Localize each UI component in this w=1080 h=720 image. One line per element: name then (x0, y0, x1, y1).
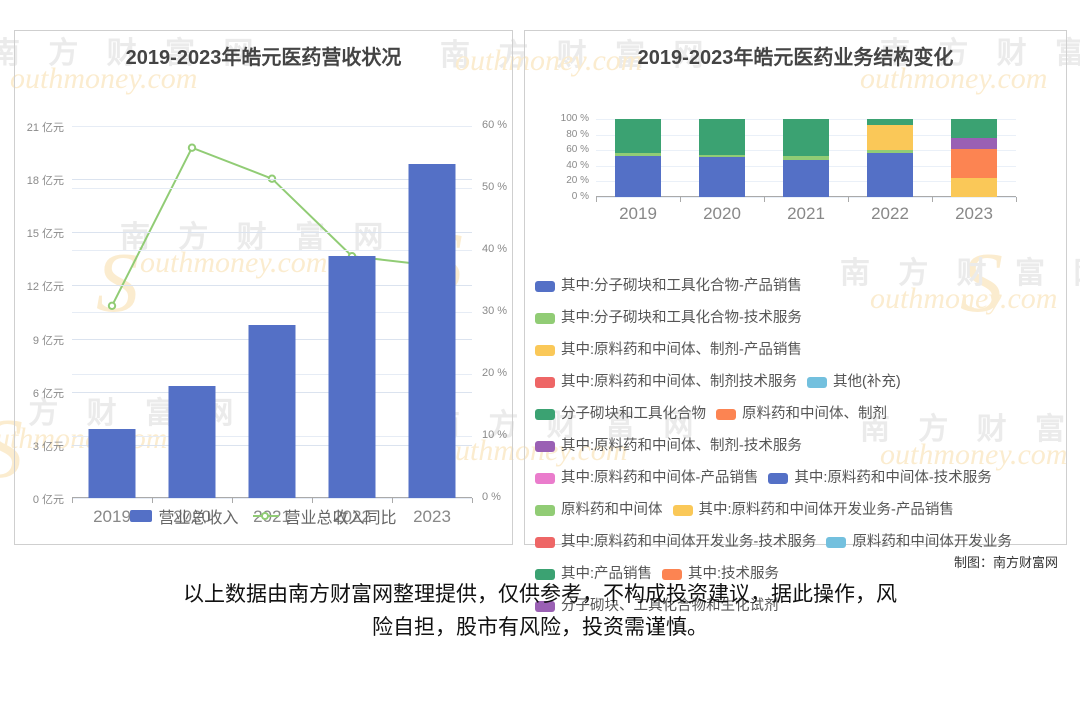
stack-segment[interactable] (951, 119, 997, 138)
legend-swatch-icon (535, 377, 555, 388)
legend-label: 原料药和中间体 (561, 500, 663, 520)
legend-item[interactable]: 其中:原料药和中间体、制剂技术服务 (535, 372, 797, 392)
legend-swatch-icon (826, 537, 846, 548)
x-axis-tick (152, 498, 153, 503)
y-axis-tick: 20 % (566, 175, 589, 186)
gridline (72, 126, 472, 127)
stack-segment[interactable] (951, 138, 997, 149)
legend-item[interactable]: 其中:分子砌块和工具化合物-技术服务 (535, 308, 802, 328)
legend-swatch-icon (716, 409, 736, 420)
x-axis-tick (472, 498, 473, 503)
legend-item[interactable]: 其中:原料药和中间体、制剂-产品销售 (535, 340, 802, 360)
y-axis-right-tick: 60 % (482, 119, 507, 131)
legend-swatch-icon (535, 537, 555, 548)
structure-plot-area: 0 %20 %40 %60 %80 %100 %2019202020212022… (596, 119, 1016, 197)
legend-swatch-icon (673, 505, 693, 516)
legend-item[interactable]: 分子砌块和工具化合物 (535, 404, 706, 424)
legend-swatch-icon (535, 409, 555, 420)
y-axis-tick: 100 % (561, 113, 589, 124)
legend-item[interactable]: 其中:原料药和中间体-技术服务 (768, 468, 991, 488)
stacked-bar[interactable] (699, 119, 745, 197)
x-axis-label: 2021 (787, 204, 825, 224)
stack-segment[interactable] (867, 125, 913, 150)
stack-segment[interactable] (951, 178, 997, 198)
yoy-data-point[interactable] (109, 303, 115, 309)
legend-label: 其中:分子砌块和工具化合物-技术服务 (561, 308, 802, 328)
revenue-plot-area: 0 亿元3 亿元6 亿元9 亿元12 亿元15 亿元18 亿元21 亿元0 %1… (72, 126, 472, 498)
disclaimer-text: 以上数据由南方财富网整理提供，仅供参考，不构成投资建议，据此操作，风 险自担，股… (70, 578, 1010, 644)
line-swatch-icon (253, 510, 279, 522)
y-axis-left-tick: 9 亿元 (33, 332, 64, 348)
x-axis-tick (764, 197, 765, 202)
legend-label: 其他(补充) (833, 372, 901, 392)
legend-item-total-revenue[interactable]: 营业总收入 (130, 504, 238, 528)
yoy-line (112, 148, 432, 306)
legend-swatch-icon (535, 505, 555, 516)
page-title: 2019-2023年皓元医药业务结构变化 (525, 41, 1066, 70)
x-axis-label: 2023 (955, 204, 993, 224)
stacked-bar[interactable] (783, 119, 829, 197)
legend-item[interactable]: 其中:原料药和中间体、制剂-技术服务 (535, 436, 802, 456)
x-axis-tick (1016, 197, 1017, 202)
legend-item[interactable]: 原料药和中间体、制剂 (716, 404, 887, 424)
yoy-data-point[interactable] (189, 145, 195, 151)
stacked-bar[interactable] (867, 119, 913, 197)
y-axis-left-tick: 21 亿元 (27, 119, 64, 135)
x-axis-label: 2022 (871, 204, 909, 224)
legend-swatch-icon (535, 313, 555, 324)
bar[interactable] (409, 164, 456, 498)
bar[interactable] (249, 325, 296, 498)
disclaimer-line-2: 险自担，股市有风险，投资需谨慎。 (70, 611, 1010, 644)
y-axis-left-tick: 18 亿元 (27, 172, 64, 188)
x-axis-tick (312, 498, 313, 503)
y-axis-right-tick: 30 % (482, 305, 507, 317)
revenue-chart-panel: 2019-2023年皓元医药营收状况 0 亿元3 亿元6 亿元9 亿元12 亿元… (14, 30, 513, 545)
legend-label: 其中:原料药和中间体开发业务-产品销售 (699, 500, 954, 520)
page-title: 2019-2023年皓元医药营收状况 (15, 41, 512, 70)
bar[interactable] (89, 429, 136, 498)
y-axis-tick: 0 % (572, 191, 589, 202)
bar[interactable] (169, 386, 216, 498)
gridline (596, 197, 1016, 198)
legend-item[interactable]: 其中:原料药和中间体开发业务-技术服务 (535, 532, 816, 552)
x-axis-label: 2019 (619, 204, 657, 224)
y-axis-left-tick: 3 亿元 (33, 438, 64, 454)
y-axis-tick: 60 % (566, 144, 589, 155)
x-axis-tick (848, 197, 849, 202)
stack-segment[interactable] (783, 119, 829, 156)
legend-label: 其中:原料药和中间体-产品销售 (561, 468, 758, 488)
stack-segment[interactable] (615, 156, 661, 197)
legend-item[interactable]: 原料药和中间体开发业务 (826, 532, 1012, 552)
y-axis-right-tick: 20 % (482, 367, 507, 379)
legend-label: 营业总收入同比 (285, 504, 397, 528)
legend-item[interactable]: 其中:原料药和中间体-产品销售 (535, 468, 758, 488)
x-axis-tick (596, 197, 597, 202)
legend-label: 原料药和中间体开发业务 (852, 532, 1012, 552)
stack-segment[interactable] (951, 149, 997, 178)
gridline (72, 498, 472, 499)
legend-label: 其中:分子砌块和工具化合物-产品销售 (561, 276, 802, 296)
legend-swatch-icon (535, 441, 555, 452)
stacked-bar[interactable] (951, 119, 997, 197)
legend-label: 分子砌块和工具化合物 (561, 404, 706, 424)
legend-swatch-icon (535, 345, 555, 356)
legend-item[interactable]: 其他(补充) (807, 372, 901, 392)
x-axis-tick (232, 498, 233, 503)
y-axis-tick: 40 % (566, 160, 589, 171)
bar[interactable] (329, 256, 376, 498)
y-axis-right-tick: 0 % (482, 491, 501, 503)
legend-swatch-icon (807, 377, 827, 388)
y-axis-left-tick: 15 亿元 (27, 225, 64, 241)
disclaimer-line-1: 以上数据由南方财富网整理提供，仅供参考，不构成投资建议，据此操作，风 (70, 578, 1010, 611)
bar-swatch-icon (130, 510, 152, 522)
business-structure-panel: 2019-2023年皓元医药业务结构变化 0 %20 %40 %60 %80 %… (524, 30, 1067, 545)
x-axis-label: 2020 (703, 204, 741, 224)
legend-swatch-icon (535, 281, 555, 292)
legend-swatch-icon (768, 473, 788, 484)
x-axis-tick (392, 498, 393, 503)
x-axis-tick (932, 197, 933, 202)
legend-label: 原料药和中间体、制剂 (742, 404, 887, 424)
stacked-bar[interactable] (615, 119, 661, 197)
y-axis-left-tick: 6 亿元 (33, 385, 64, 401)
legend-item-total-revenue-yoy[interactable]: 营业总收入同比 (253, 504, 397, 528)
x-axis-tick (680, 197, 681, 202)
stack-segment[interactable] (867, 153, 913, 197)
stack-segment[interactable] (783, 160, 829, 197)
stack-segment[interactable] (699, 157, 745, 197)
y-axis-right-tick: 40 % (482, 243, 507, 255)
legend-label: 其中:原料药和中间体、制剂-产品销售 (561, 340, 802, 360)
y-axis-tick: 80 % (566, 129, 589, 140)
legend-swatch-icon (535, 473, 555, 484)
legend-label: 其中:原料药和中间体开发业务-技术服务 (561, 532, 816, 552)
legend-label: 其中:原料药和中间体-技术服务 (794, 468, 991, 488)
x-axis-tick (72, 498, 73, 503)
chart-credit: 制图：南方财富网 (954, 552, 1058, 571)
revenue-chart-legend: 营业总收入 营业总收入同比 (15, 504, 512, 528)
legend-item[interactable]: 原料药和中间体 (535, 500, 663, 520)
infographic-page: 南 方 财 富 网 outhmoney.com S 南 方 财 富 网 outh… (0, 0, 1080, 720)
legend-item[interactable]: 其中:分子砌块和工具化合物-产品销售 (535, 276, 802, 296)
legend-label: 营业总收入 (158, 504, 238, 528)
legend-label: 其中:原料药和中间体、制剂技术服务 (561, 372, 797, 392)
legend-item[interactable]: 其中:原料药和中间体开发业务-产品销售 (673, 500, 954, 520)
y-axis-left-tick: 12 亿元 (27, 278, 64, 294)
legend-label: 其中:原料药和中间体、制剂-技术服务 (561, 436, 802, 456)
stack-segment[interactable] (615, 119, 661, 153)
y-axis-right-tick: 10 % (482, 429, 507, 441)
y-axis-right-tick: 50 % (482, 181, 507, 193)
stack-segment[interactable] (699, 119, 745, 155)
